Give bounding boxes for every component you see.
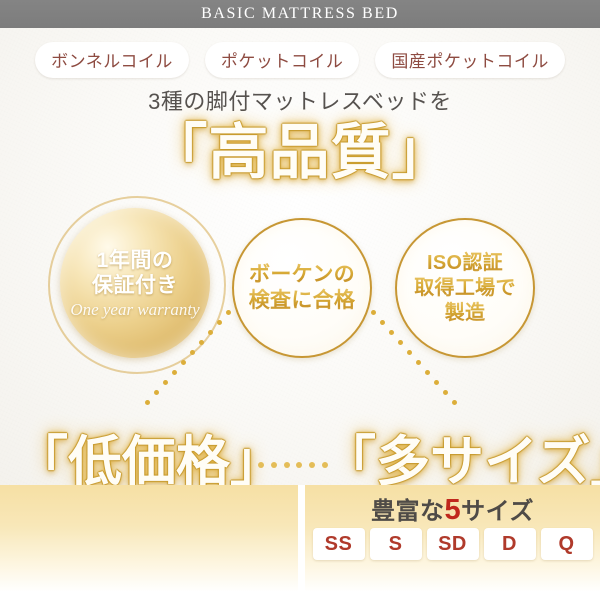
boken-line-2: 検査に合格 <box>249 288 356 314</box>
iso-line-2: 取得工場で <box>414 276 516 301</box>
bottom-zone: 豊富な5サイズ SS S SD D Q <box>0 485 600 600</box>
size-box-d[interactable]: D <box>484 528 536 560</box>
connector-dot <box>296 462 302 468</box>
bottom-left-panel <box>0 485 298 592</box>
warranty-line-2: 保証付き <box>92 273 178 298</box>
sizes-count: 5 <box>445 494 462 526</box>
size-box-row: SS S SD D Q <box>307 528 598 560</box>
size-box-ss[interactable]: SS <box>313 528 365 560</box>
connector-dot <box>271 462 277 468</box>
page-title: BASIC MATTRESS BED <box>201 5 399 23</box>
bottom-right-panel: 豊富な5サイズ SS S SD D Q <box>305 485 600 592</box>
connector-dot <box>284 462 290 468</box>
advertisement-banner: BASIC MATTRESS BED ボンネルコイル ポケットコイル 国産ポケッ… <box>0 0 600 600</box>
boken-line-1: ボーケンの <box>249 262 355 288</box>
size-box-q[interactable]: Q <box>541 528 593 560</box>
size-box-s[interactable]: S <box>370 528 422 560</box>
size-box-sd[interactable]: SD <box>427 528 479 560</box>
sizes-heading: 豊富な5サイズ <box>305 491 600 527</box>
iso-line-1: ISO認証 <box>427 251 503 276</box>
pill-bonnell-coil[interactable]: ボンネルコイル <box>35 42 189 78</box>
connector-dot <box>258 462 264 468</box>
coil-type-pill-row: ボンネルコイル ポケットコイル 国産ポケットコイル <box>0 42 600 78</box>
headline-high-quality: 「高品質」 <box>0 118 600 188</box>
badge-boken-inspection: ボーケンの 検査に合格 <box>232 218 372 358</box>
sizes-heading-suffix: サイズ <box>461 498 534 525</box>
main-panel: ボンネルコイル ポケットコイル 国産ポケットコイル 3種の脚付マットレスベッドを… <box>0 28 600 485</box>
iso-line-3: 製造 <box>445 301 486 326</box>
warranty-line-1: 1年間の <box>97 248 174 273</box>
keyword-connector-dots <box>258 460 328 470</box>
sizes-heading-prefix: 豊富な <box>371 498 445 525</box>
subtitle-text: 3種の脚付マットレスベッドを <box>0 84 600 116</box>
connector-dot <box>309 462 315 468</box>
badge-iso-certified: ISO認証 取得工場で 製造 <box>395 218 535 358</box>
pill-pocket-coil[interactable]: ポケットコイル <box>205 42 360 78</box>
pill-domestic-pocket-coil[interactable]: 国産ポケットコイル <box>375 42 565 78</box>
warranty-script-text: One year warranty <box>70 301 199 318</box>
badge-warranty: 1年間の 保証付き One year warranty <box>60 208 210 358</box>
header-band: BASIC MATTRESS BED <box>0 0 600 28</box>
